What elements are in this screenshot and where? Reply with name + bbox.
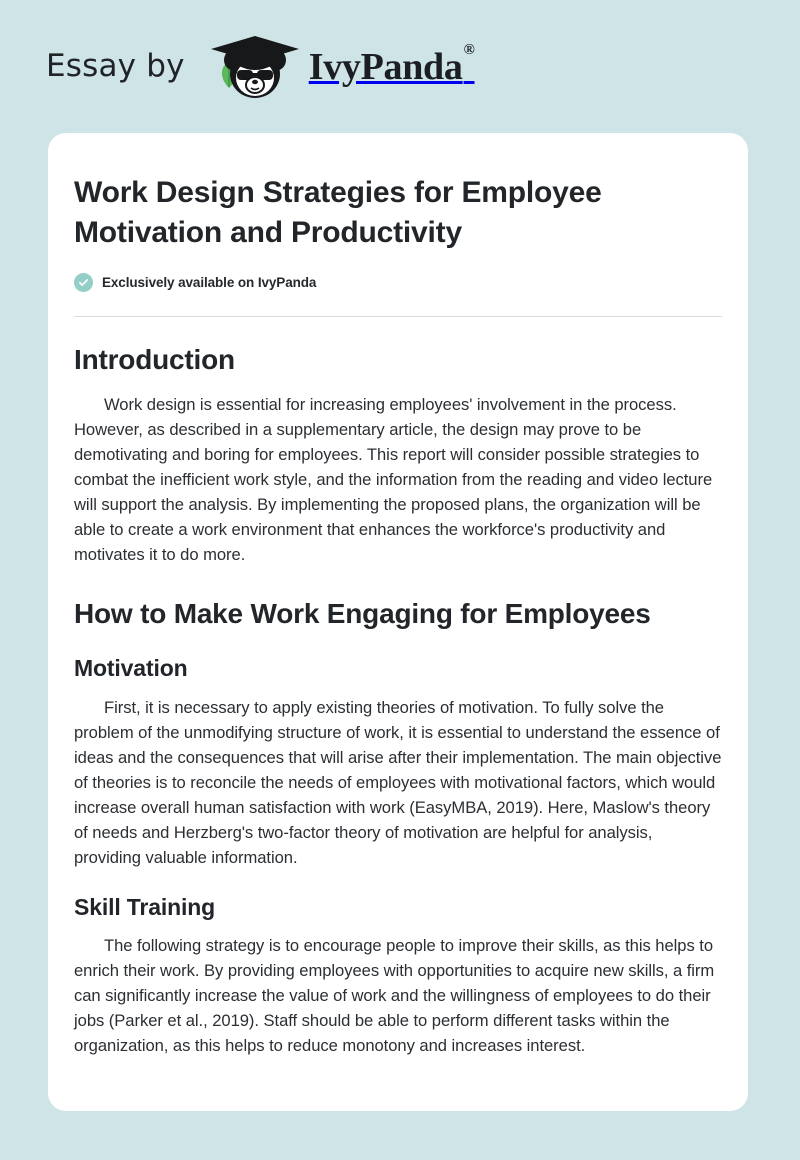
ivypanda-logo-link[interactable]: IvyPanda®	[207, 30, 474, 104]
document-paper-card: Work Design Strategies for Employee Moti…	[48, 133, 748, 1111]
section-heading-introduction: Introduction	[74, 343, 722, 377]
registered-trademark-mark: ®	[464, 42, 475, 58]
brand-header: Essay by	[0, 0, 800, 133]
section-paragraph-skill-training: The following strategy is to encourage p…	[74, 933, 722, 1058]
page-title: Work Design Strategies for Employee Moti…	[74, 173, 722, 253]
section-paragraph-introduction: Work design is essential for increasing …	[74, 392, 722, 567]
check-circle-icon	[74, 273, 93, 292]
brand-name-text: IvyPanda	[309, 46, 463, 88]
section-heading-how-to-make-work-engaging: How to Make Work Engaging for Employees	[74, 597, 722, 631]
section-heading-skill-training: Skill Training	[74, 894, 722, 922]
essay-by-label: Essay by	[46, 51, 185, 82]
panda-graduate-logo-icon	[207, 30, 309, 104]
section-heading-motivation: Motivation	[74, 655, 722, 683]
document-body: Work Design Strategies for Employee Moti…	[74, 173, 722, 1058]
exclusive-availability-label: Exclusively available on IvyPanda	[102, 275, 316, 290]
title-divider	[74, 316, 722, 317]
exclusive-availability-badge: Exclusively available on IvyPanda	[74, 273, 722, 292]
section-paragraph-motivation: First, it is necessary to apply existing…	[74, 695, 722, 870]
brand-wordmark: IvyPanda®	[309, 48, 474, 86]
